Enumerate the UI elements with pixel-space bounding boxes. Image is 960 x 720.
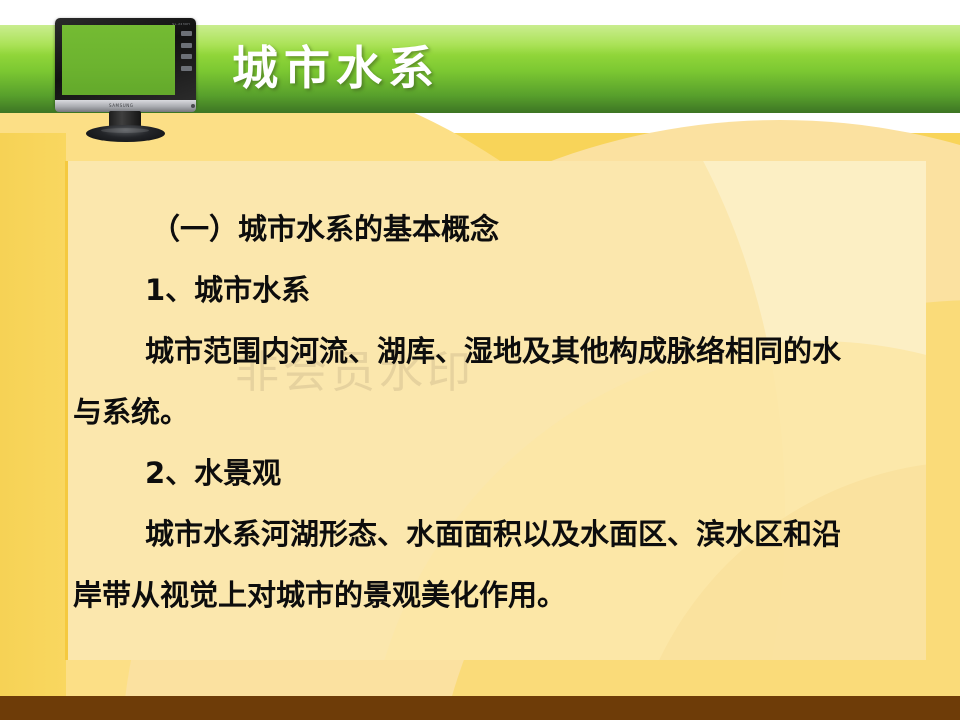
body-line: 2、水景观 (73, 443, 918, 504)
body-line: 岸带从视觉上对城市的景观美化作用。 (73, 565, 918, 626)
monitor-bezel: SL-2230H (55, 18, 196, 108)
body-line: 1、城市水系 (73, 260, 918, 321)
content-card: 非会员水印 （一）城市水系的基本概念 1、城市水系 城市范围内河流、湖库、湿地及… (65, 161, 926, 660)
body-text-block: （一）城市水系的基本概念 1、城市水系 城市范围内河流、湖库、湿地及其他构成脉络… (65, 161, 926, 660)
monitor-side-buttons (181, 31, 192, 71)
computer-monitor-icon: SL-2230H SAMSUNG (55, 18, 203, 138)
background-left-band (0, 133, 66, 720)
monitor-power-led-icon (191, 104, 195, 108)
bottom-accent-bar (0, 696, 960, 720)
body-line: 城市水系河湖形态、水面面积以及水面区、滨水区和沿 (73, 504, 918, 565)
body-line: （一）城市水系的基本概念 (73, 199, 918, 260)
monitor-brand-logo: SAMSUNG (109, 103, 134, 108)
body-line: 城市范围内河流、湖库、湿地及其他构成脉络相同的水 (73, 321, 918, 382)
body-line: 与系统。 (73, 382, 918, 443)
monitor-screen (62, 25, 175, 95)
monitor-model-label: SL-2230H (172, 22, 190, 26)
slide-canvas: 城市水系 SL-2230H SAMSUNG 非会员水印 （一）城市水系的基本概念… (0, 0, 960, 720)
monitor-stand-highlight (101, 128, 149, 133)
page-title: 城市水系 (232, 36, 440, 100)
